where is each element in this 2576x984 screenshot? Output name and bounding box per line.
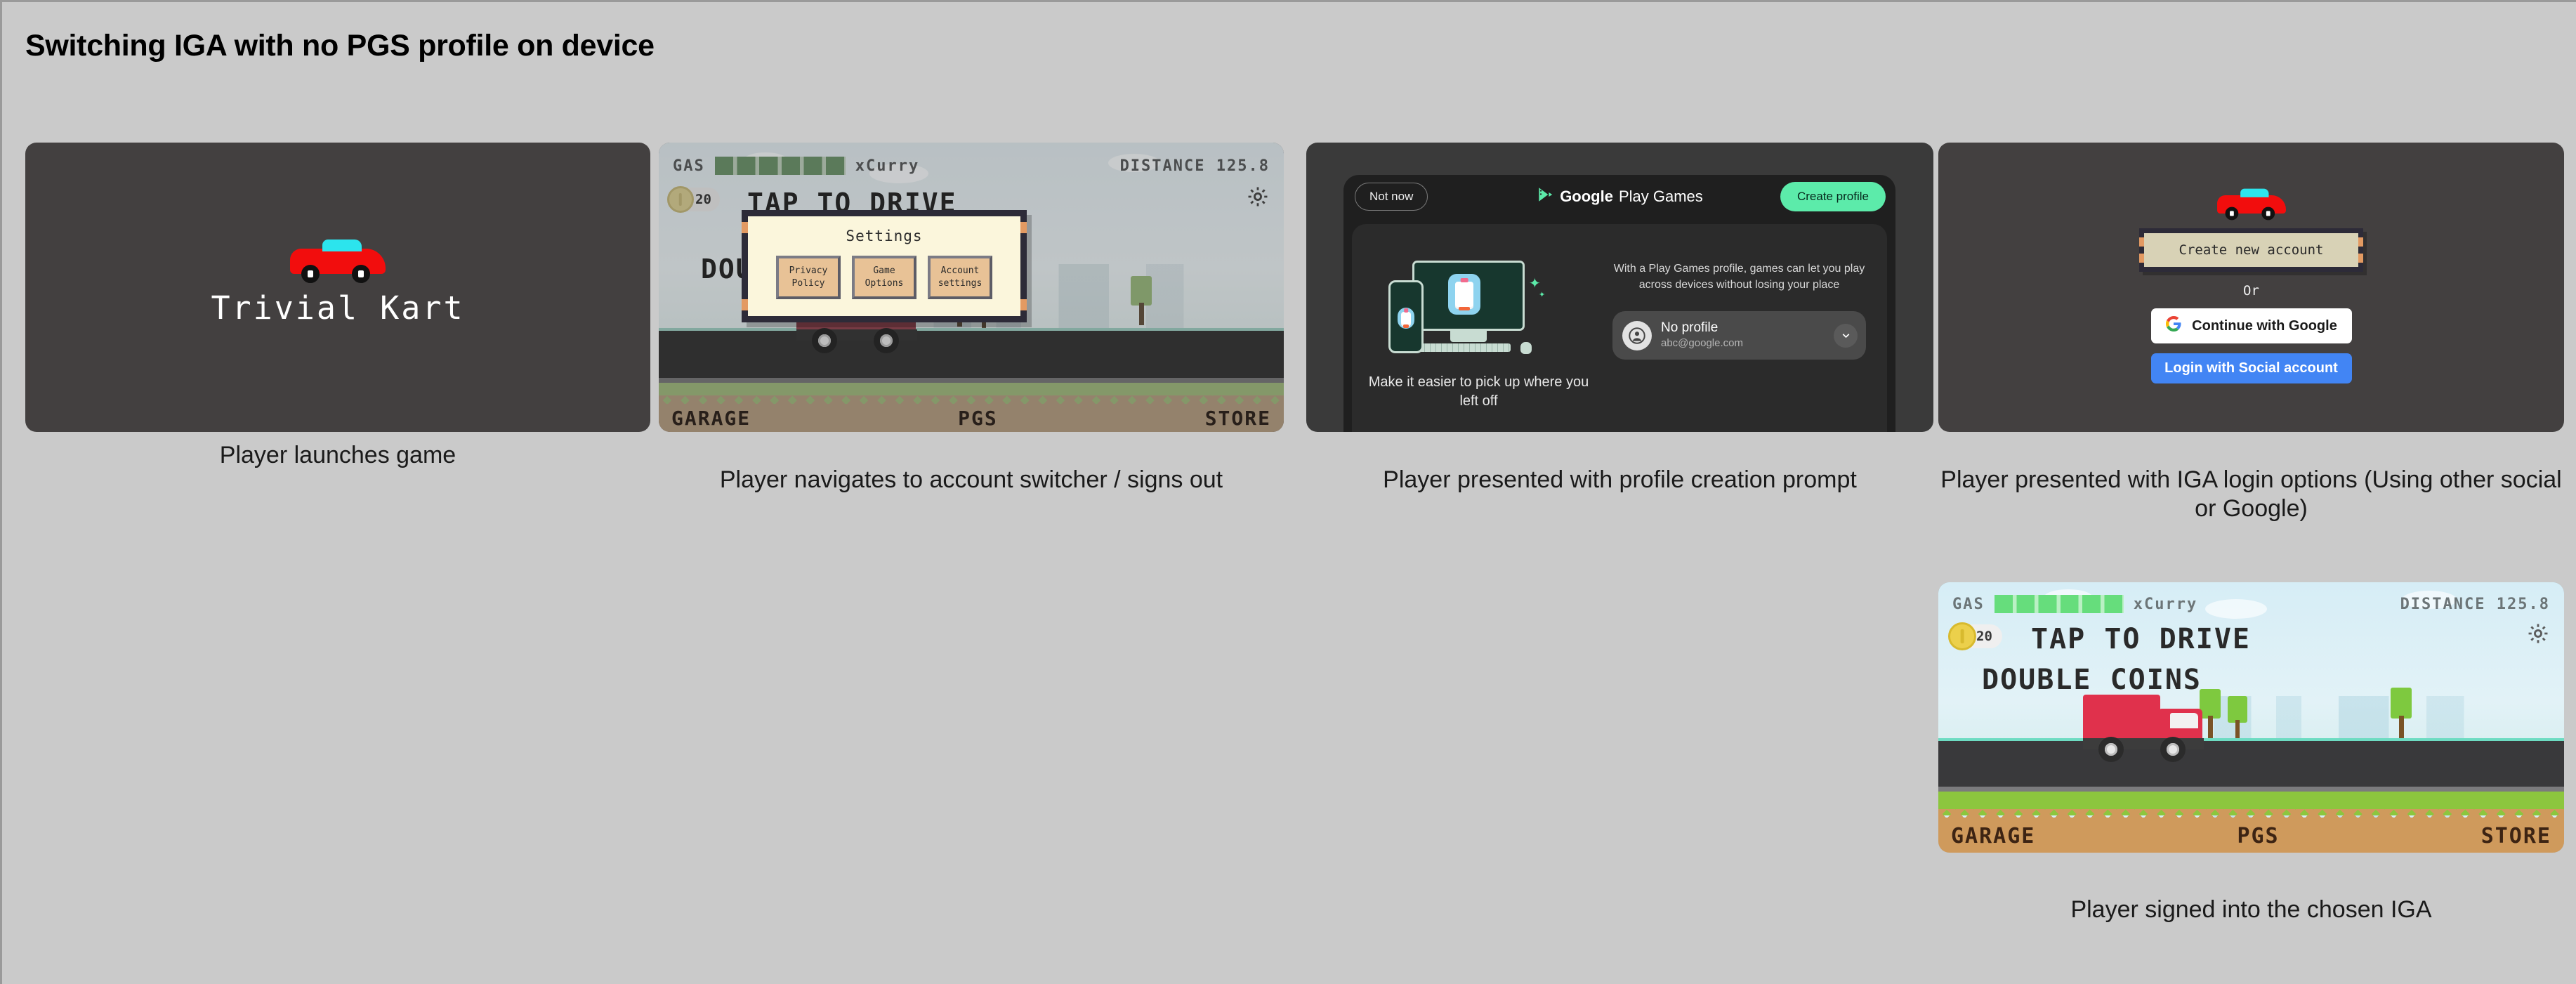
profile-email: abc@google.com [1661,336,1743,350]
game-title: Trivial Kart [211,289,464,327]
tree-icon [1129,276,1153,325]
gas-bar [1995,595,2124,613]
coin-count: 20 [695,192,711,207]
pixel-car-icon [290,249,386,274]
gas-label: GAS [673,157,705,175]
create-new-account-button[interactable]: Create new account [2139,228,2364,272]
nav-pgs[interactable]: PGS [2237,824,2279,848]
truck-sprite [2083,689,2214,759]
profile-name: No profile [1661,320,1743,336]
gas-bar [715,157,846,175]
or-separator: Or [2243,283,2259,299]
play-games-logo-icon [1536,185,1554,208]
pixel-car-icon [2217,195,2286,214]
caption-account-switcher: Player navigates to account switcher / s… [659,466,1284,494]
coin-counter: 20 [677,188,720,211]
tap-to-drive-line2: DOUBLE COINS [1982,664,2202,696]
panel-signed-in-game: GAS xCurry DISTANCE 125.8 20 TAP TO DRIV… [1938,582,2564,853]
page-title: Switching IGA with no PGS profile on dev… [25,29,655,63]
not-now-button[interactable]: Not now [1355,183,1428,211]
nav-pgs[interactable]: PGS [958,407,998,430]
coin-counter: 20 [1958,624,2002,648]
distance-label: DISTANCE 125.8 [1120,157,1270,175]
privacy-policy-button[interactable]: Privacy Policy [776,256,841,299]
play-games-brand: Google Play Games [1536,185,1703,208]
create-profile-button[interactable]: Create profile [1780,182,1886,211]
account-circle-icon [1622,321,1652,350]
caption-splash: Player launches game [25,441,650,470]
gear-icon[interactable] [1246,185,1270,212]
chevron-down-icon[interactable] [1834,324,1858,348]
tree-icon [2226,696,2249,740]
illustration-caption: Make it easier to pick up where you left… [1363,373,1594,411]
nav-store[interactable]: STORE [2481,824,2551,848]
google-g-icon [2165,315,2182,336]
gear-icon[interactable] [2526,622,2550,649]
login-with-social-button[interactable]: Login with Social account [2151,353,2352,383]
nav-garage[interactable]: GARAGE [1951,824,2035,848]
nav-store[interactable]: STORE [1205,407,1271,430]
gas-label: GAS [1952,596,1985,613]
profile-description: With a Play Games profile, games can let… [1612,261,1866,293]
panel-iga-login: Create new account Or Continue with Goog… [1938,143,2564,432]
cross-device-illustration: ✦ ✦ [1383,261,1551,352]
caption-signed-in: Player signed into the chosen IGA [1938,896,2564,924]
player-name: xCurry [2134,596,2197,613]
panel-game-splash: Trivial Kart [25,143,650,432]
settings-dialog-title: Settings [748,228,1020,244]
player-name: xCurry [855,157,919,175]
panel-account-switcher: GAS xCurry DISTANCE 125.8 20 TAP TO DRIV… [659,143,1284,432]
sparkle-icon: ✦ [1539,290,1545,299]
caption-iga-login: Player presented with IGA login options … [1938,466,2564,524]
profile-selector-row[interactable]: No profile abc@google.com [1612,311,1866,359]
brand-play-games: Play Games [1619,188,1703,206]
nav-garage[interactable]: GARAGE [671,407,751,430]
distance-label: DISTANCE 125.8 [2400,596,2550,613]
settings-dialog: Settings Privacy Policy Game Options Acc… [742,210,1027,322]
account-settings-button[interactable]: Account settings [928,256,992,299]
coin-icon [667,186,694,213]
coin-icon [1948,622,1976,650]
tree-icon [2389,688,2413,738]
game-options-button[interactable]: Game Options [852,256,916,299]
continue-with-google-button[interactable]: Continue with Google [2151,308,2352,343]
coin-count: 20 [1976,629,1992,644]
caption-profile-prompt: Player presented with profile creation p… [1306,466,1933,494]
tap-to-drive-line1: TAP TO DRIVE [2031,623,2251,655]
brand-google: Google [1560,188,1613,206]
panel-profile-prompt: Not now Google Play Games Create profile [1306,143,1933,432]
